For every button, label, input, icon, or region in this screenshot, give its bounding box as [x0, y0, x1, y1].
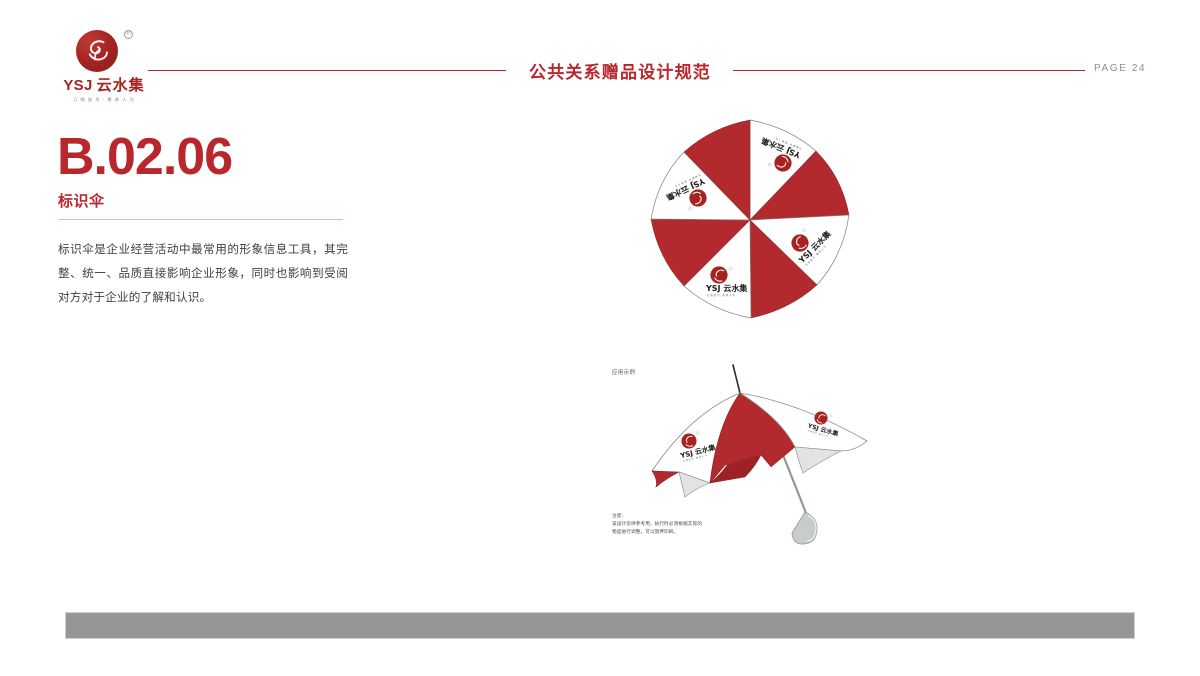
umbrella-top-view: YSJ 云水集 万物皆华·慕承人为 YSJ 云水集 万物皆华·慕承人为: [620, 115, 880, 340]
header-rule-right: [733, 70, 1085, 71]
brand-logo: ® YSJ云水集 万 物 皆 华 · 慕 承 人 为: [58, 28, 150, 104]
section-body-text: 标识伞是企业经营活动中最常用的形象信息工具，其完整、统一、品质直接影响企业形象，…: [58, 238, 348, 309]
page-header: ® YSJ云水集 万 物 皆 华 · 慕 承 人 为 公共关系赠品设计规范 PA…: [0, 0, 1200, 115]
header-title: 公共关系赠品设计规范: [506, 58, 734, 83]
section-subtitle: 标识伞: [58, 190, 105, 211]
page-root: ® YSJ云水集 万 物 皆 华 · 慕 承 人 为 公共关系赠品设计规范 PA…: [0, 0, 1200, 676]
svg-text:YSJ 云水集: YSJ 云水集: [705, 283, 748, 293]
section-code: B.02.06: [57, 131, 232, 183]
header-rule-left: [148, 70, 506, 71]
ysj-bird-leaf-mark-icon: [76, 30, 118, 72]
page-number-label: PAGE 24: [1094, 63, 1146, 74]
logo-latin-text: YSJ: [63, 77, 92, 94]
footer-color-bar: [65, 612, 1135, 639]
logo-tagline: 万 物 皆 华 · 慕 承 人 为: [60, 97, 148, 103]
logo-chinese-text: 云水集: [97, 74, 145, 95]
note-title: 注意：: [612, 513, 772, 521]
logo-wordmark: YSJ云水集 万 物 皆 华 · 慕 承 人 为: [58, 74, 150, 103]
note-line-1: 该设计仅供参考用，执行时必须根据实际的: [612, 521, 772, 529]
artwork-note-block: 注意： 该设计仅供参考用，执行时必须根据实际的 物品进行调整，可以放弃印刷。: [612, 513, 772, 537]
note-line-2: 物品进行调整，可以放弃印刷。: [612, 529, 772, 537]
section-divider: [58, 219, 343, 220]
svg-text:万物皆华·慕承人为: 万物皆华·慕承人为: [707, 293, 736, 297]
artwork-area: YSJ 云水集 万物皆华·慕承人为 YSJ 云水集 万物皆华·慕承人为: [600, 110, 1160, 580]
logo-mark-wrap: ®: [58, 28, 150, 74]
registered-trademark-icon: ®: [124, 30, 133, 39]
